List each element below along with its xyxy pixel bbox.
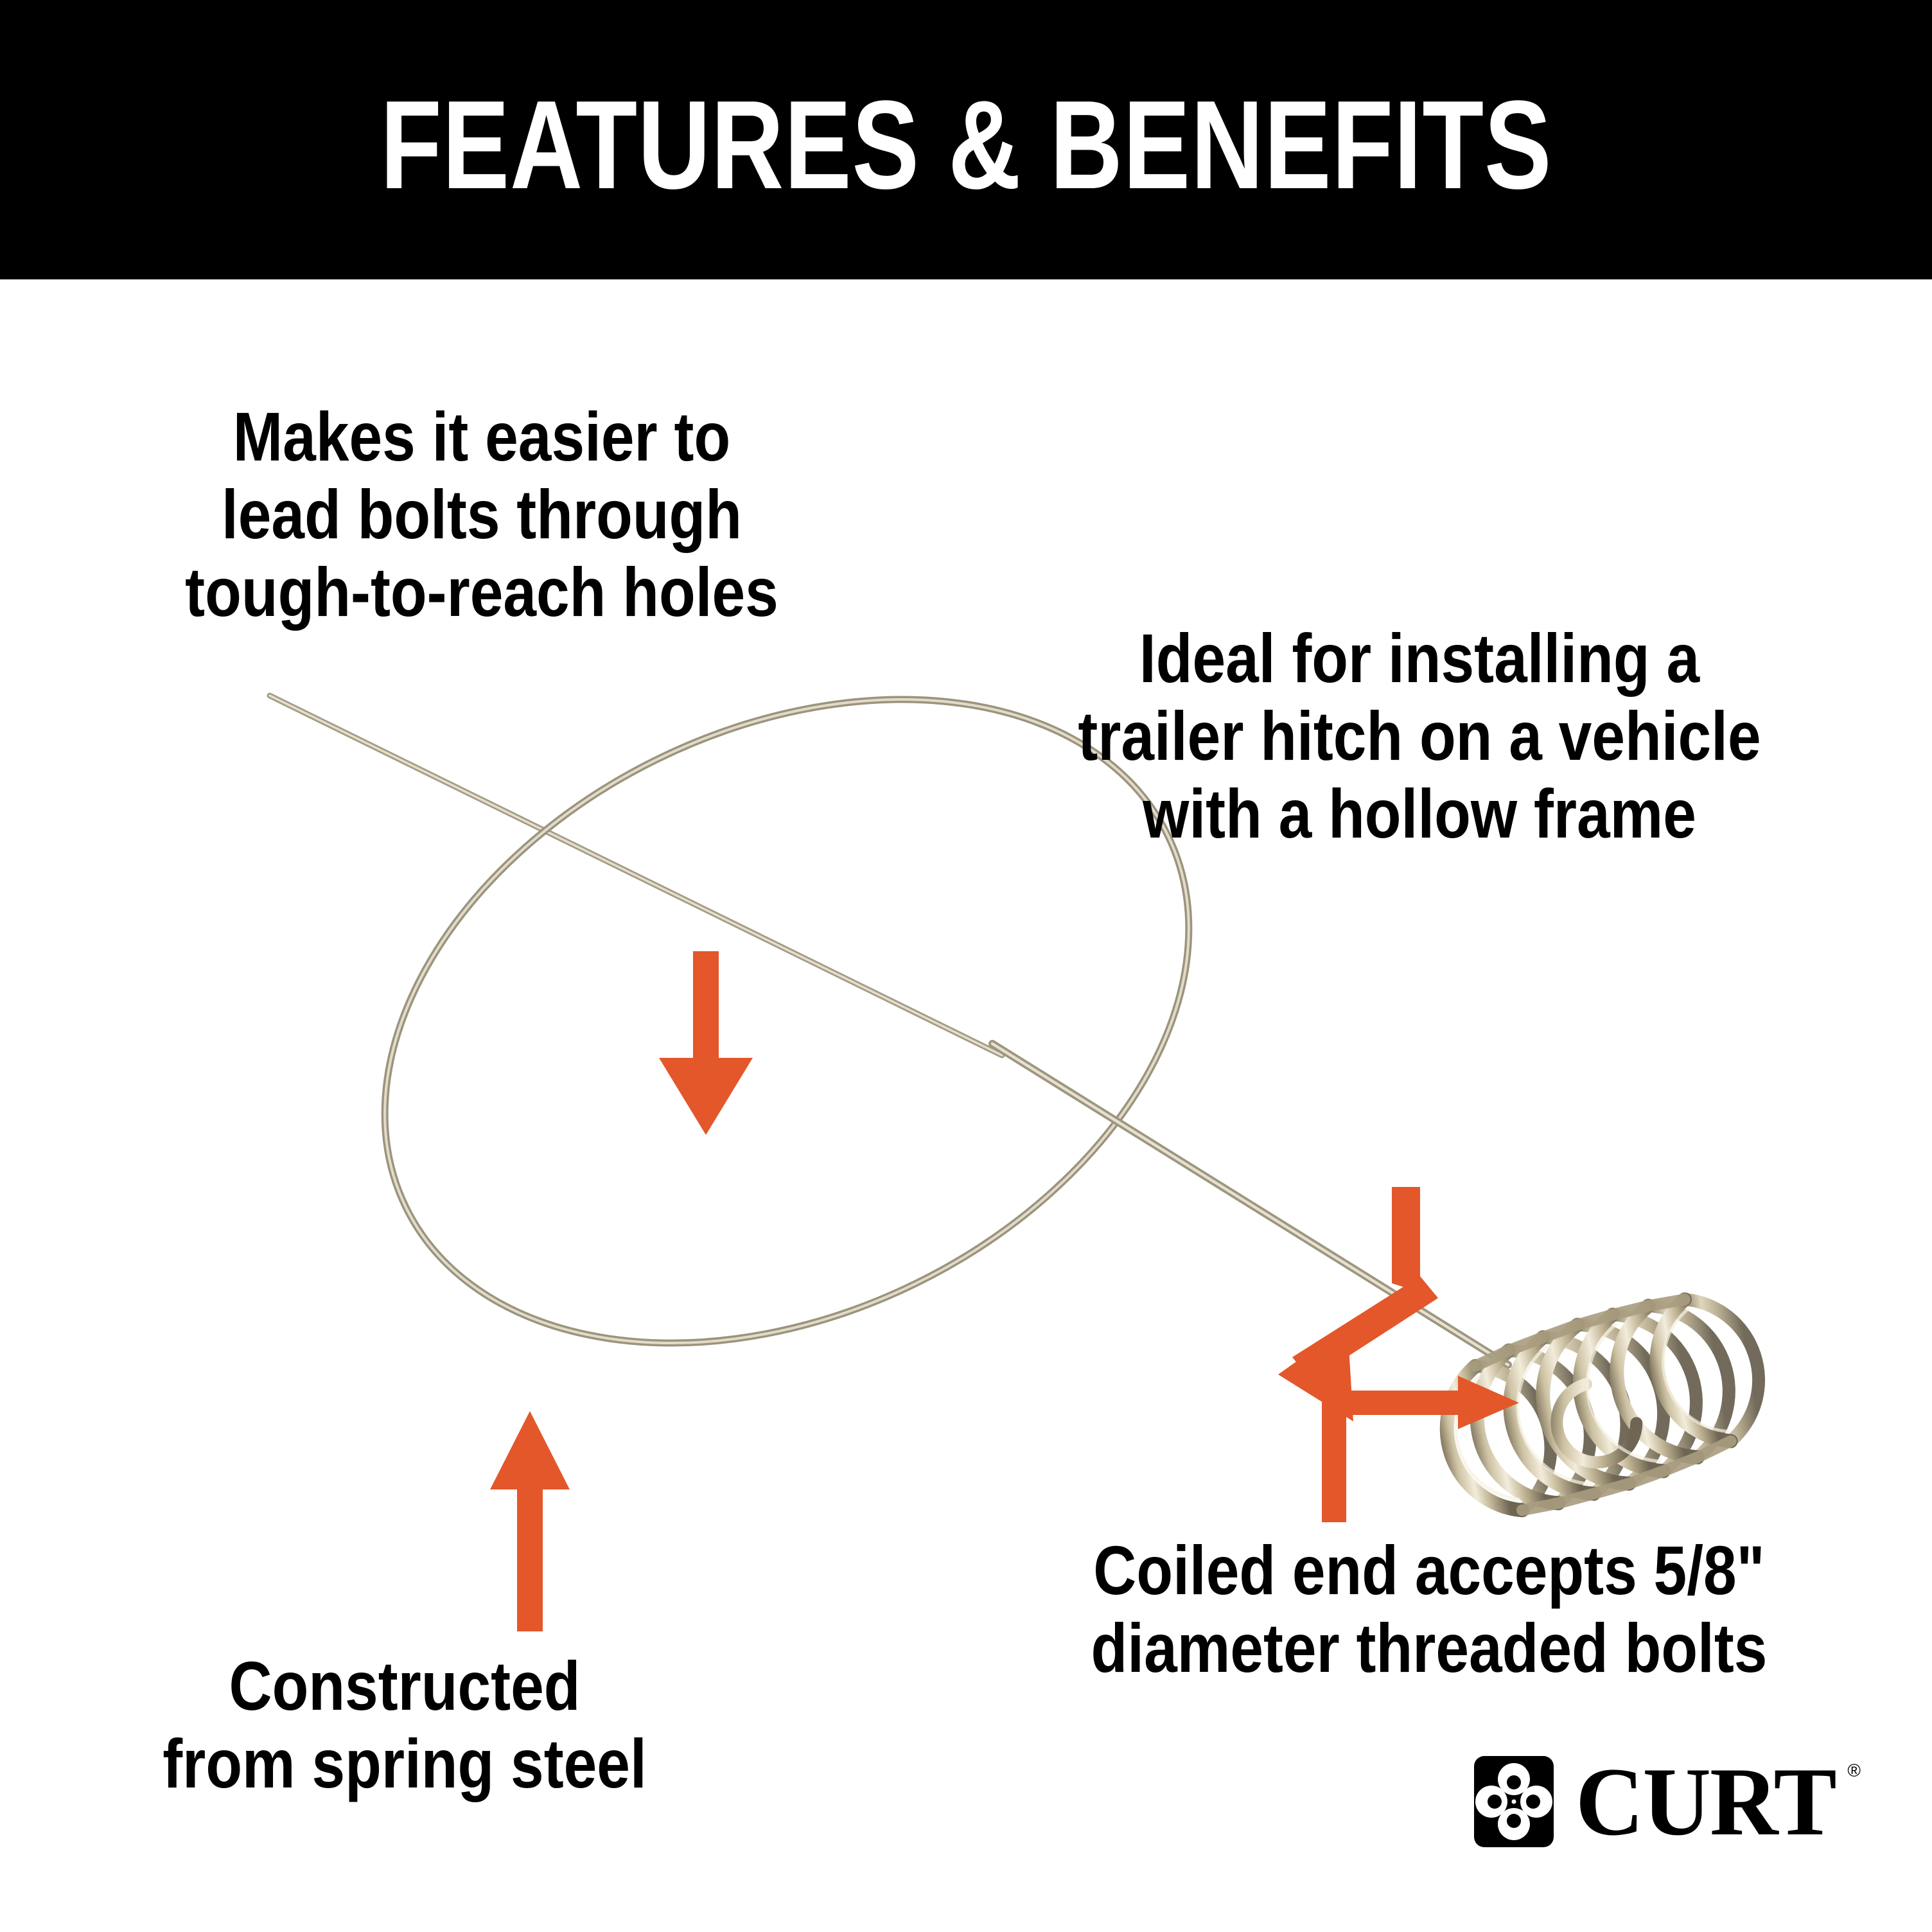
elbow-up-right-arrow-icon <box>1322 1376 1519 1522</box>
infographic-canvas: Makes it easier to lead bolts through to… <box>0 279 1932 1932</box>
down-arrow-icon <box>659 951 753 1135</box>
curt-quatrefoil-logo-icon <box>1474 1756 1554 1847</box>
curt-logo: CURT ® <box>1474 1750 1898 1853</box>
elbow-down-left-arrow-icon <box>1278 1187 1438 1421</box>
header-bar: FEATURES & BENEFITS <box>0 0 1932 279</box>
callout-threaded-bolts: Coiled end accepts 5/8" diameter threade… <box>1029 1532 1830 1687</box>
callout-lead-bolts: Makes it easier to lead bolts through to… <box>150 398 813 631</box>
curt-wordmark: CURT <box>1576 1753 1836 1850</box>
callout-hollow-frame: Ideal for installing a trailer hitch on … <box>1027 620 1811 853</box>
up-arrow-icon <box>490 1411 570 1631</box>
callout-spring-steel: Constructed from spring steel <box>112 1647 698 1803</box>
page-title: FEATURES & BENEFITS <box>380 82 1552 208</box>
registered-trademark-icon: ® <box>1847 1762 1861 1780</box>
